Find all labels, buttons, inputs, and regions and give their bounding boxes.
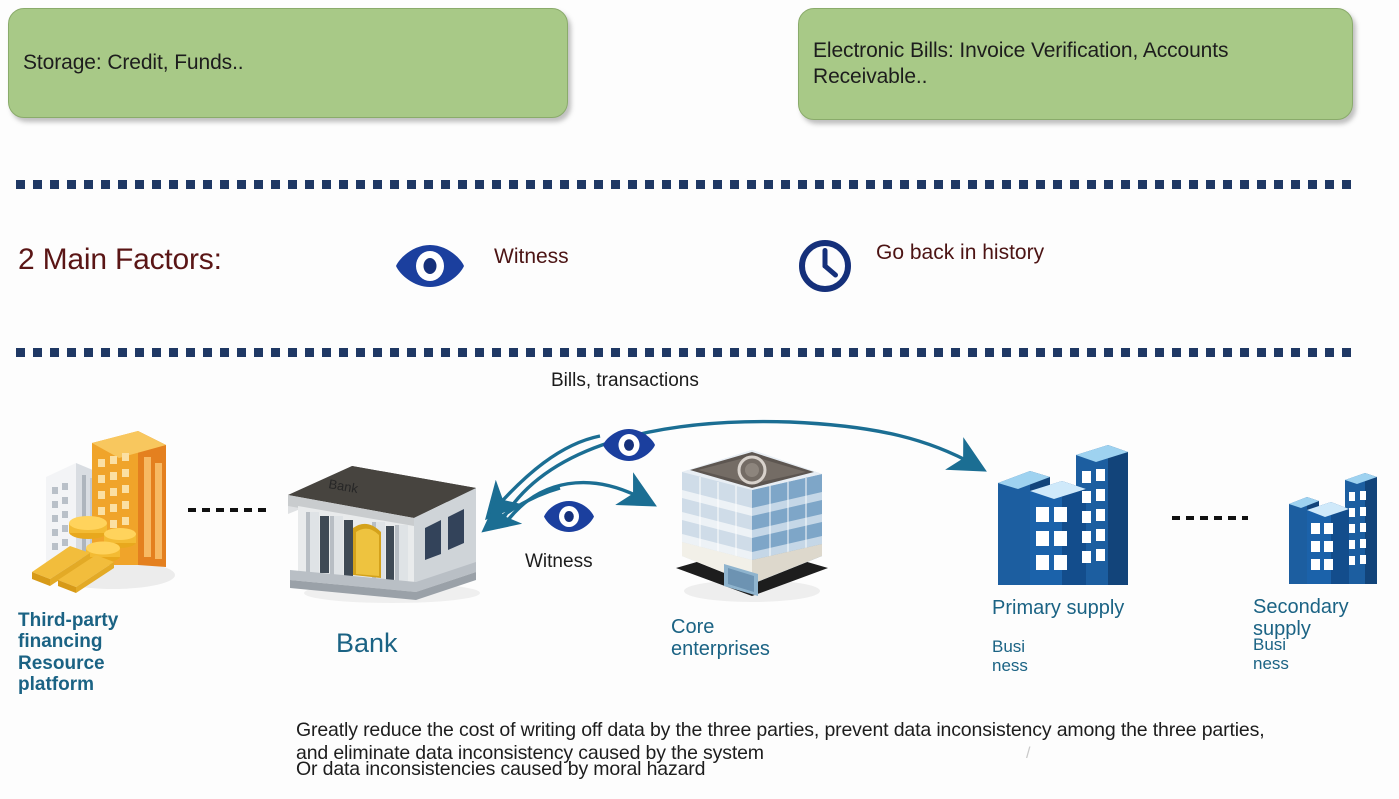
bank-building-icon: Bank — [280, 462, 495, 607]
factor-history-label: Go back in history — [876, 240, 1046, 265]
node-label-core: Core enterprises — [671, 616, 801, 661]
storage-callout-box[interactable]: Storage: Credit, Funds.. — [8, 8, 568, 118]
label-line: platform — [18, 674, 168, 695]
office-buildings-icon — [988, 443, 1138, 598]
node-label-primary: Primary supply — [992, 597, 1152, 619]
label-line: Secondary — [1253, 596, 1373, 618]
slide-canvas: Storage: Credit, Funds.. Electronic Bill… — [0, 0, 1399, 799]
label-line: Busi — [992, 637, 1062, 656]
label-line: ness — [1253, 654, 1323, 673]
caption-line-1: Greatly reduce the cost of writing off d… — [296, 719, 1264, 742]
office-buildings-icon — [1283, 470, 1383, 595]
electronic-bills-callout-box[interactable]: Electronic Bills: Invoice Verification, … — [798, 8, 1353, 120]
label-line: ness — [992, 656, 1062, 675]
label-line: Core — [671, 616, 801, 638]
flow-label-bills: Bills, transactions — [551, 370, 699, 392]
eye-icon — [602, 428, 656, 462]
factor-witness-label: Witness — [494, 244, 569, 269]
label-line: Busi — [1253, 635, 1323, 654]
core-enterprise-building-icon — [660, 438, 840, 608]
electronic-bills-callout-text: Electronic Bills: Invoice Verification, … — [813, 38, 1338, 91]
node-label-platform: Third-party financing Resource platform — [18, 610, 168, 695]
main-factors-title: 2 Main Factors: — [18, 243, 222, 277]
node-sublabel-secondary: Busi ness — [1253, 635, 1323, 673]
node-sublabel-primary: Busi ness — [992, 637, 1062, 675]
clock-icon — [797, 238, 853, 294]
caption-line-3: Or data inconsistencies caused by moral … — [296, 758, 705, 781]
label-line: Third-party — [18, 610, 168, 631]
flow-label-witness: Witness — [525, 551, 593, 573]
artifact-mark: / — [1026, 745, 1030, 763]
label-line: Resource — [18, 653, 168, 674]
dotted-divider-top — [16, 180, 1353, 189]
financing-platform-buildings-icon — [18, 425, 183, 595]
label-line: enterprises — [671, 638, 801, 660]
eye-icon — [394, 243, 466, 289]
dotted-divider-bottom — [16, 348, 1353, 357]
label-line: financing — [18, 631, 168, 652]
eye-icon — [543, 500, 595, 533]
node-label-bank: Bank — [336, 628, 398, 658]
storage-callout-text: Storage: Credit, Funds.. — [23, 50, 244, 76]
